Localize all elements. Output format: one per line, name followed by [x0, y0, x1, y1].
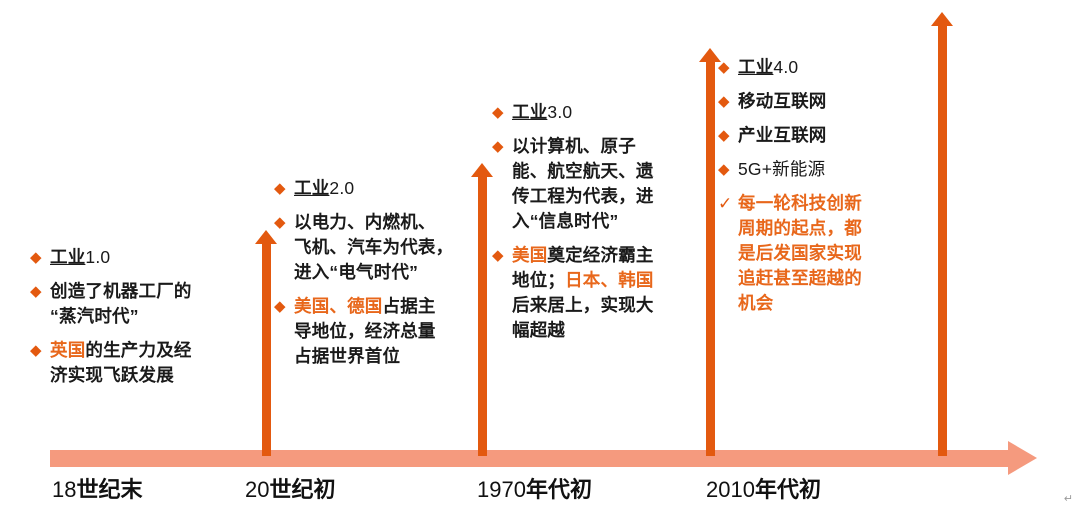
list-item: ◆ 英国的生产力及经	[30, 338, 245, 363]
diamond-bullet-icon: ◆	[30, 279, 50, 304]
list-item-label: 占据世界首位	[294, 344, 400, 369]
list-item-continuation: 传工程为代表，进	[492, 184, 697, 209]
list-item: ◆ 以电力、内燃机、	[274, 210, 489, 235]
list-item: ◆ 工业1.0	[30, 245, 245, 270]
list-item: ◆ 创造了机器工厂的	[30, 279, 245, 304]
era-column-industry-1: ◆ 工业1.0 ◆ 创造了机器工厂的 “蒸汽时代” ◆ 英国的生产力及经 济实现…	[30, 245, 245, 397]
list-item-continuation: 导地位，经济总量	[274, 319, 489, 344]
list-item-continuation: 济实现飞跃发展	[30, 363, 245, 388]
era-arrow-industry-4	[706, 61, 715, 456]
timeline-infographic: ◆ 工业1.0 ◆ 创造了机器工厂的 “蒸汽时代” ◆ 英国的生产力及经 济实现…	[0, 0, 1080, 510]
list-item-continuation: 进入“电气时代”	[274, 260, 489, 285]
list-item-label: 入“信息时代”	[512, 209, 618, 234]
diamond-bullet-icon: ◆	[274, 210, 294, 235]
list-item-label: 幅超越	[512, 318, 565, 343]
diamond-bullet-icon: ◆	[718, 55, 738, 80]
era-column-industry-4: ◆ 工业4.0 ◆ 移动互联网 ◆ 产业互联网 ◆ 5G+新能源 ✓ 每一轮科技…	[718, 55, 933, 325]
list-item-label: 能、航空航天、遗	[512, 159, 654, 184]
list-item-continuation: 机会	[718, 291, 933, 316]
list-item-label: 导地位，经济总量	[294, 319, 436, 344]
diamond-bullet-icon: ◆	[492, 134, 512, 159]
list-item-continuation: 后来居上，实现大	[492, 293, 697, 318]
paragraph-mark-artifact: ↵	[1064, 492, 1073, 505]
list-item-continuation: 周期的起点，都	[718, 216, 933, 241]
list-item-label: 英国的生产力及经	[50, 338, 192, 363]
list-item-continuation: “蒸汽时代”	[30, 304, 245, 329]
list-item: ◆ 5G+新能源	[718, 157, 933, 182]
list-item-label: 机会	[738, 291, 773, 316]
list-item-label: 传工程为代表，进	[512, 184, 654, 209]
list-item-label: 5G+新能源	[738, 157, 825, 182]
list-item-continuation: 幅超越	[492, 318, 697, 343]
diamond-bullet-icon: ◆	[718, 89, 738, 114]
list-item-label: 进入“电气时代”	[294, 260, 418, 285]
list-item: ◆ 以计算机、原子	[492, 134, 697, 159]
axis-tick-label-2: 20世纪初	[245, 472, 336, 504]
list-item-label: 工业2.0	[294, 176, 354, 201]
list-item: ◆ 工业3.0	[492, 100, 697, 125]
list-item: ◆ 产业互联网	[718, 123, 933, 148]
list-item: ◆ 移动互联网	[718, 89, 933, 114]
list-item-label: 周期的起点，都	[738, 216, 862, 241]
list-item-continuation: 地位；日本、韩国	[492, 268, 697, 293]
list-item-label: “蒸汽时代”	[50, 304, 139, 329]
list-item-label: 每一轮科技创新	[738, 191, 862, 216]
axis-tick-label-3: 1970年代初	[477, 472, 592, 504]
diamond-bullet-icon: ◆	[274, 294, 294, 319]
list-item-label: 工业1.0	[50, 245, 110, 270]
list-item-label: 移动互联网	[738, 89, 827, 114]
list-item-continuation: 能、航空航天、遗	[492, 159, 697, 184]
axis-tick-label-1: 18世纪末	[52, 472, 143, 504]
list-item-label: 工业3.0	[512, 100, 572, 125]
list-item-label: 创造了机器工厂的	[50, 279, 192, 304]
list-item-label: 飞机、汽车为代表，	[294, 235, 453, 260]
list-item-label: 以计算机、原子	[512, 134, 636, 159]
list-item-label: 地位；日本、韩国	[512, 268, 654, 293]
diamond-bullet-icon: ◆	[492, 243, 512, 268]
list-item-label: 济实现飞跃发展	[50, 363, 174, 388]
diamond-bullet-icon: ◆	[30, 245, 50, 270]
list-item-continuation: 是后发国家实现	[718, 241, 933, 266]
axis-tick-label-4: 2010年代初	[706, 472, 821, 504]
diamond-bullet-icon: ◆	[30, 338, 50, 363]
era-arrow-industry-2	[262, 243, 271, 456]
list-item-label: 追赶甚至超越的	[738, 266, 862, 291]
list-item-continuation: 入“信息时代”	[492, 209, 697, 234]
list-item-continuation: 飞机、汽车为代表，	[274, 235, 489, 260]
timeline-axis-bar	[50, 450, 1010, 467]
check-bullet-icon: ✓	[718, 191, 738, 216]
list-item-conclusion: ✓ 每一轮科技创新	[718, 191, 933, 216]
diamond-bullet-icon: ◆	[492, 100, 512, 125]
diamond-bullet-icon: ◆	[718, 157, 738, 182]
list-item-label: 产业互联网	[738, 123, 827, 148]
list-item-continuation: 占据世界首位	[274, 344, 489, 369]
list-item: ◆ 工业2.0	[274, 176, 489, 201]
list-item-label: 是后发国家实现	[738, 241, 862, 266]
era-arrow-future	[938, 25, 947, 456]
list-item: ◆ 工业4.0	[718, 55, 933, 80]
diamond-bullet-icon: ◆	[718, 123, 738, 148]
list-item: ◆ 美国奠定经济霸主	[492, 243, 697, 268]
list-item-label: 后来居上，实现大	[512, 293, 654, 318]
list-item-continuation: 追赶甚至超越的	[718, 266, 933, 291]
timeline-axis-arrowhead	[1008, 441, 1037, 475]
era-column-industry-2: ◆ 工业2.0 ◆ 以电力、内燃机、 飞机、汽车为代表， 进入“电气时代” ◆ …	[274, 176, 489, 378]
era-column-industry-3: ◆ 工业3.0 ◆ 以计算机、原子 能、航空航天、遗 传工程为代表，进 入“信息…	[492, 100, 697, 352]
list-item-label: 美国奠定经济霸主	[512, 243, 654, 268]
list-item: ◆ 美国、德国占据主	[274, 294, 489, 319]
list-item-label: 美国、德国占据主	[294, 294, 436, 319]
diamond-bullet-icon: ◆	[274, 176, 294, 201]
list-item-label: 以电力、内燃机、	[294, 210, 436, 235]
list-item-label: 工业4.0	[738, 55, 798, 80]
